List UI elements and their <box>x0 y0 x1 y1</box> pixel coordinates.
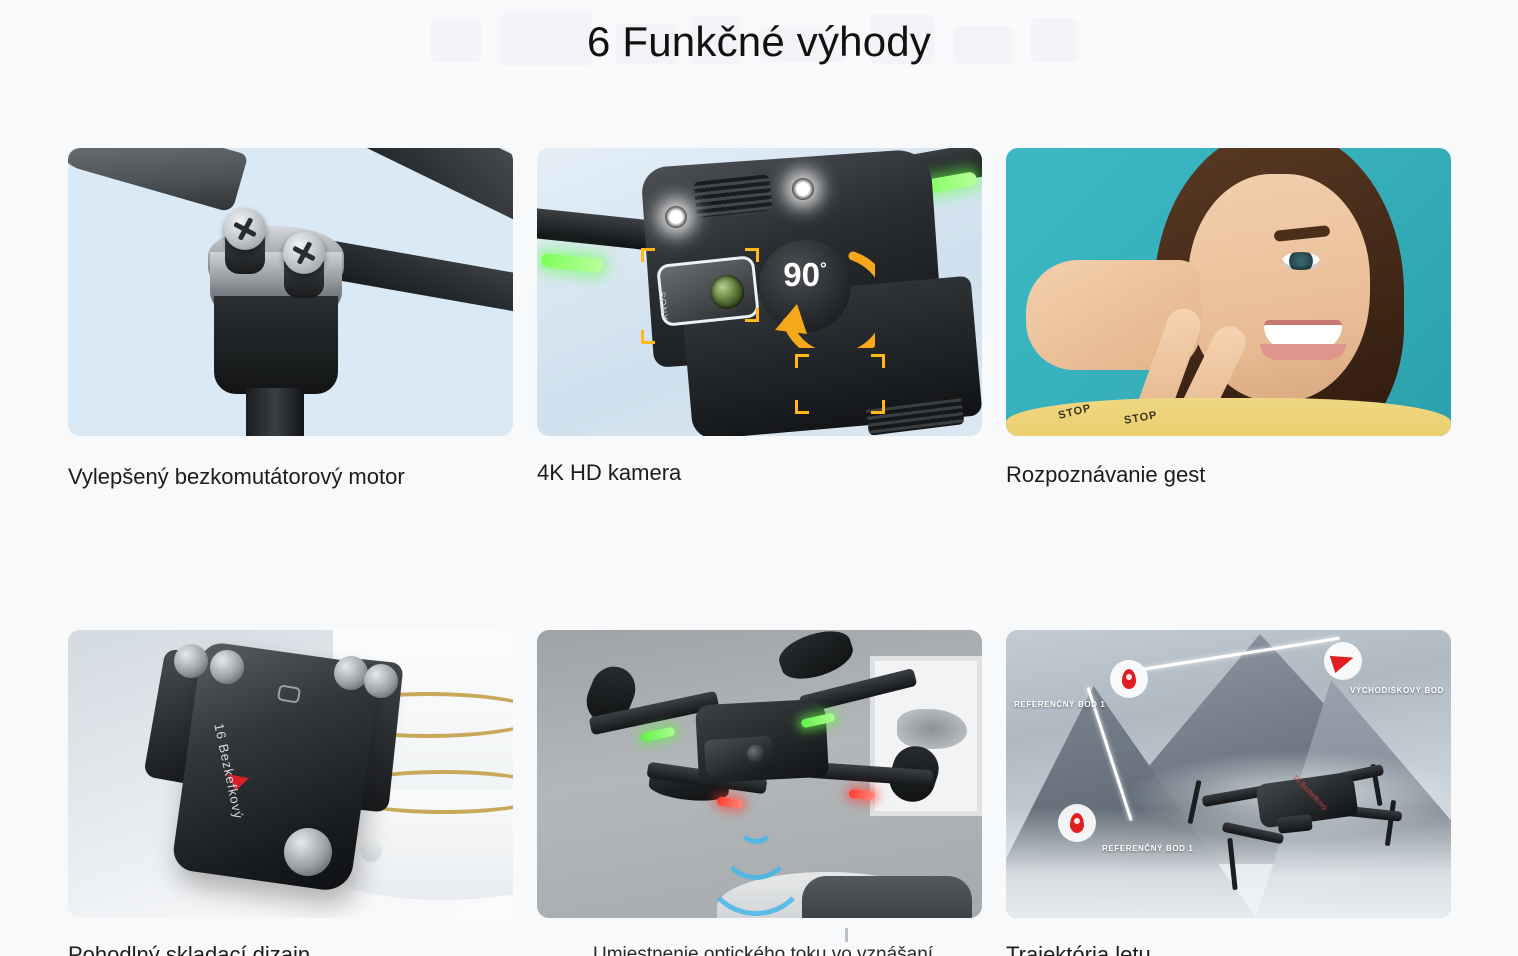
motor-hub-icon <box>210 650 244 684</box>
feature-card-gesture-recognition[interactable]: STOP STOP Rozpoznávanie gest <box>1006 148 1451 490</box>
pin-marker <box>1122 669 1136 689</box>
waypoint-pin-icon[interactable] <box>1110 660 1148 698</box>
camera-lens-icon <box>746 744 765 763</box>
model-lower-lip <box>1260 344 1346 360</box>
feature-caption: Vylepšený bezkomutátorový motor <box>68 464 513 490</box>
peace-sign-hand-icon <box>1026 260 1201 370</box>
motor-hub-icon <box>364 664 398 698</box>
focus-bracket-icon <box>871 354 885 368</box>
optical-flow-wave-icon <box>701 806 811 916</box>
feature-caption: Trajektória letu <box>1006 942 1451 956</box>
feature-card-4k-camera[interactable]: 90° SONY 4K HD kamera <box>537 148 982 490</box>
focus-bracket-icon <box>641 248 655 262</box>
red-led-light <box>849 789 876 800</box>
decor-ball <box>360 836 382 862</box>
feature-caption: Umiestnenie optického toku vo vznášaní <box>593 944 982 956</box>
arrow-marker <box>1330 649 1356 673</box>
feature-caption: 4K HD kamera <box>537 460 982 486</box>
headlight-icon <box>665 206 687 228</box>
feature-image-4k-camera: 90° SONY <box>537 148 982 436</box>
home-point-arrow-icon[interactable] <box>1324 642 1362 680</box>
feature-card-flight-path[interactable]: REFERENČNÝ BOD 1 REFERENČNÝ BOD 1 VÝCHOD… <box>1006 630 1451 956</box>
motor-stem <box>246 388 304 436</box>
feature-caption: Rozpoznávanie gest <box>1006 462 1451 488</box>
feature-card-optical-flow[interactable]: Umiestnenie optického toku vo vznášaní <box>537 630 982 956</box>
feature-image-flight-path: REFERENČNÝ BOD 1 REFERENČNÝ BOD 1 VÝCHOD… <box>1006 630 1451 918</box>
feature-caption: Pohodlný skladací dizajn <box>68 942 513 956</box>
rotation-angle-badge: 90° <box>765 256 845 294</box>
focus-bracket-icon <box>745 248 759 262</box>
focus-bracket-icon <box>641 330 655 344</box>
motor-body <box>214 296 338 394</box>
feature-card-foldable-design[interactable]: 16 Bezkefkový Pohodlný skladací dizajn <box>68 630 513 956</box>
screw-icon <box>224 208 266 250</box>
camera-lens-icon <box>709 273 746 310</box>
focus-bracket-icon <box>871 400 885 414</box>
focus-bracket-icon <box>795 400 809 414</box>
feature-grid: Vylepšený bezkomutátorový motor 90° <box>68 148 1450 956</box>
waypoint-label: VÝCHODISKOVÝ BOD <box>1350 686 1444 695</box>
feature-card-brushless-motor[interactable]: Vylepšený bezkomutátorový motor <box>68 148 513 490</box>
feature-image-optical-flow <box>537 630 982 918</box>
motor-hub-icon <box>174 644 208 678</box>
text-cursor-artifact <box>845 928 848 942</box>
product-label: 16 Bezkefkový <box>1291 774 1328 812</box>
waypoint-pin-icon[interactable] <box>1058 804 1096 842</box>
degree-symbol: ° <box>820 259 827 278</box>
pin-marker <box>1070 813 1084 833</box>
waypoint-label: REFERENČNÝ BOD 1 <box>1014 700 1105 709</box>
feature-image-foldable-design: 16 Bezkefkový <box>68 630 513 918</box>
waypoint-label: REFERENČNÝ BOD 1 <box>1102 844 1193 853</box>
motor-hub-icon <box>334 656 368 690</box>
camera-brand-label: SONY <box>657 291 670 321</box>
camera-module <box>704 736 774 777</box>
model-eye <box>1282 252 1320 270</box>
page-title: 6 Funkčné výhody <box>0 18 1518 66</box>
furniture-sofa <box>802 876 972 918</box>
screw-icon <box>283 232 325 274</box>
feature-image-gesture-recognition: STOP STOP <box>1006 148 1451 436</box>
motor-hub-icon <box>284 828 332 876</box>
headlight-icon <box>792 178 814 200</box>
focus-bracket-icon <box>795 354 809 368</box>
rotation-angle-value: 90 <box>783 256 820 293</box>
focus-bracket-icon <box>745 308 759 322</box>
feature-image-brushless-motor <box>68 148 513 436</box>
frame-artwork <box>897 709 967 749</box>
